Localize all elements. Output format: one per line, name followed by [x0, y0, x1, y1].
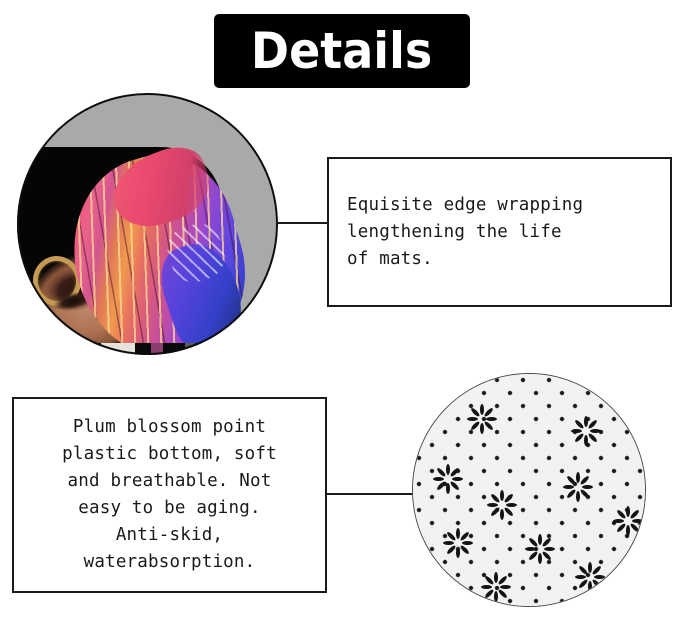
plum-blossom-point	[465, 402, 499, 436]
mat-front-photo	[17, 93, 278, 355]
callout-edge-wrapping: Equisite edge wrapping lengthening the l…	[327, 157, 672, 307]
plum-blossom-point	[523, 532, 557, 566]
details-title-banner: Details	[214, 14, 470, 88]
mat-front-photo-content	[17, 93, 278, 355]
plum-blossom-point	[485, 488, 519, 522]
connector-line-top	[276, 222, 329, 224]
mat-backing-photo	[412, 373, 646, 607]
callout-edge-wrapping-text: Equisite edge wrapping lengthening the l…	[347, 192, 583, 273]
connector-line-bottom	[326, 493, 414, 495]
callout-plastic-bottom-text: Plum blossom point plastic bottom, soft …	[62, 414, 277, 576]
page-title: Details	[251, 26, 432, 76]
plum-blossom-point	[611, 504, 645, 538]
plum-blossom-point	[441, 526, 475, 560]
plum-blossom-point	[569, 414, 603, 448]
artwork-thumbnail-strip	[17, 343, 247, 355]
plum-blossom-point	[561, 470, 595, 504]
plum-blossom-point	[431, 462, 465, 496]
plum-blossom-point	[479, 570, 513, 604]
callout-plastic-bottom: Plum blossom point plastic bottom, soft …	[12, 397, 327, 593]
plum-blossom-point	[573, 560, 607, 594]
